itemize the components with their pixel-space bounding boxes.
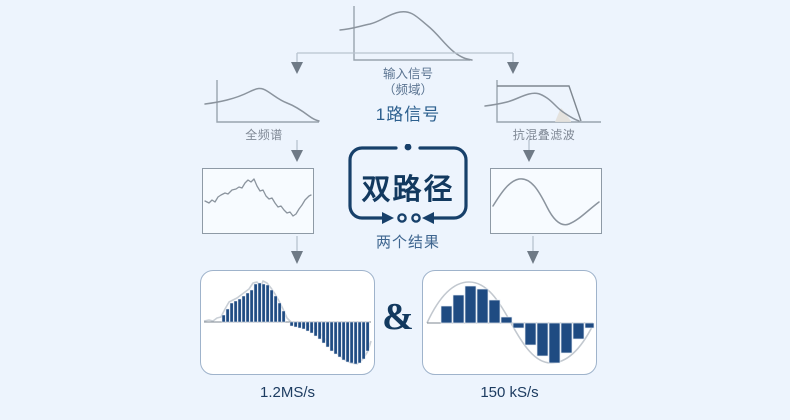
top-branch-connector [280, 36, 530, 76]
high-rate-result-panel [200, 270, 375, 375]
left-arrow-to-high-rate-panel [280, 236, 314, 266]
wideband-spectrum-box [202, 168, 314, 234]
dual-path-label: 双路径 [344, 166, 472, 208]
low-rate-bar-chart [423, 271, 596, 374]
signal-count-label: 1路信号 [340, 100, 476, 125]
two-results-label: 两个结果 [340, 231, 476, 252]
ampersand-connector: & [378, 298, 418, 336]
left-arrow-to-spectrum-box [280, 140, 314, 164]
anti-alias-filter-chart [483, 78, 605, 130]
low-rate-label: 150 kS/s [422, 384, 597, 401]
full-spectrum-chart [203, 78, 323, 130]
diagram-canvas: 输入信号 （频域） 1路信号 全频谱 抗混叠滤波 [0, 0, 790, 420]
filtered-sine-box [490, 168, 602, 234]
high-rate-bar-chart [201, 271, 374, 374]
high-rate-label: 1.2MS/s [200, 384, 375, 401]
low-rate-result-panel [422, 270, 597, 375]
right-arrow-to-low-rate-panel [516, 236, 550, 266]
right-arrow-to-sine-box [512, 140, 546, 164]
input-signal-domain: （频域） [340, 82, 476, 98]
